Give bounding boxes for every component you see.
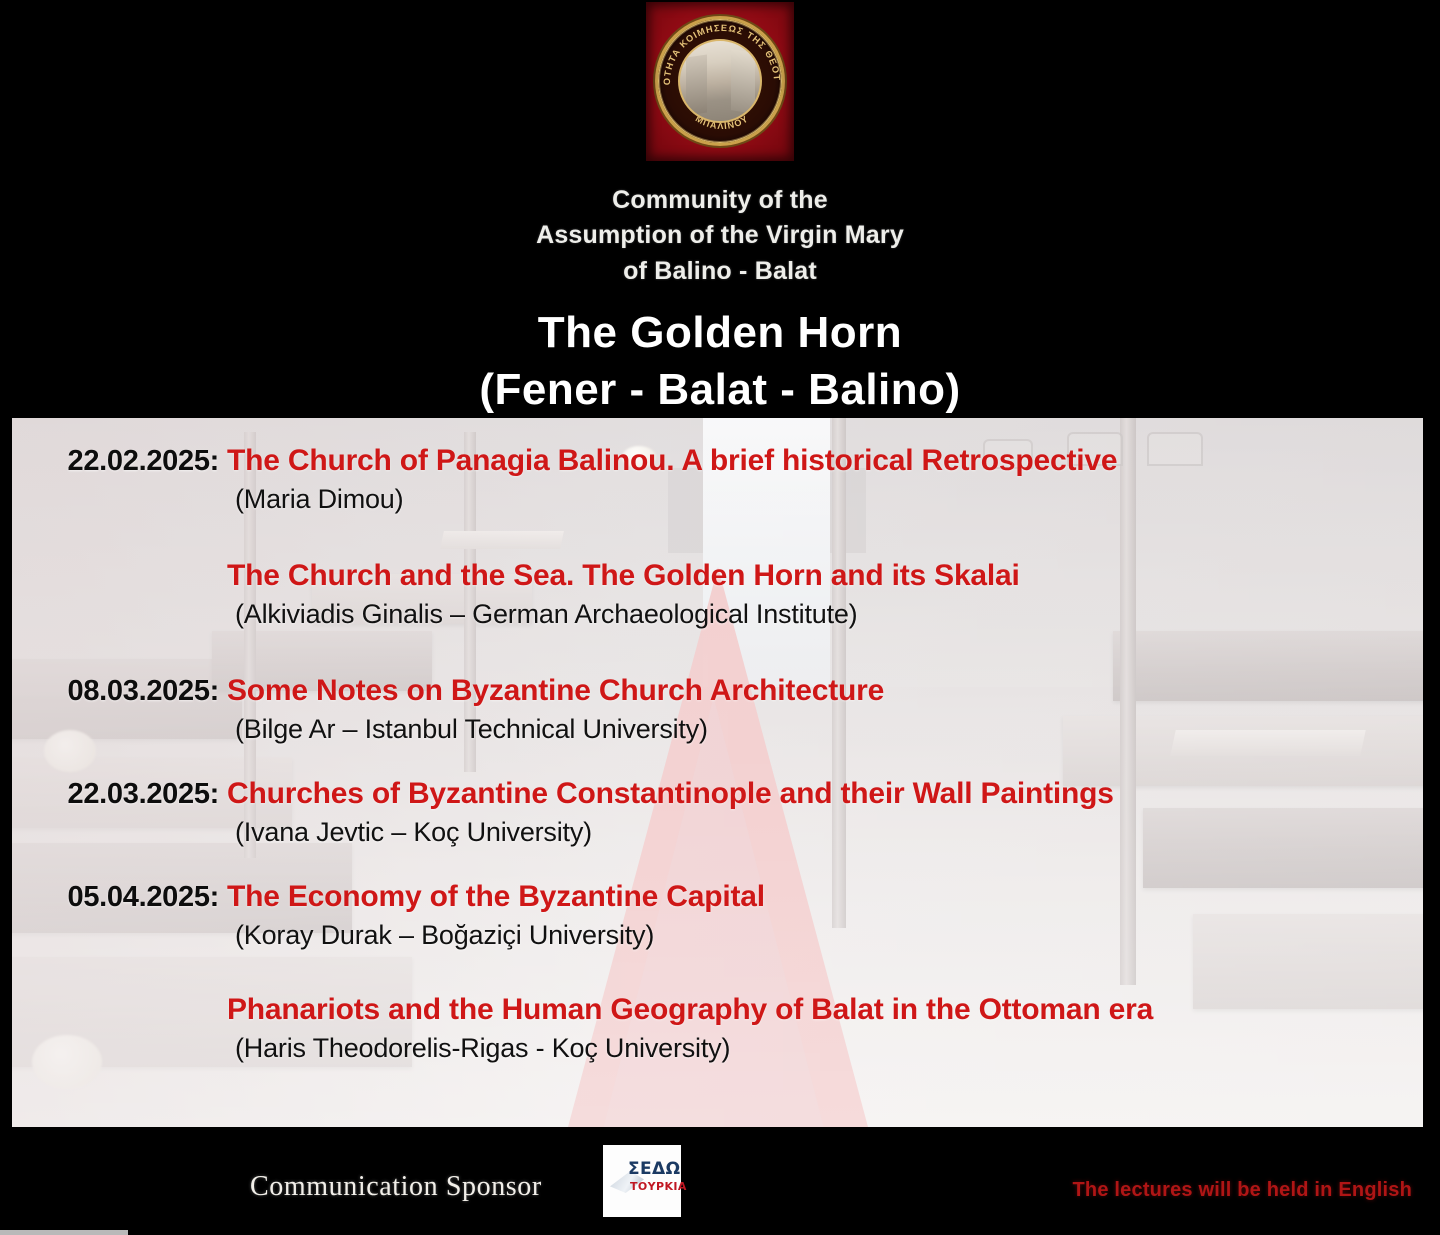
emblem-photo [678,39,762,123]
lecture-entry: 22.03.2025: Churches of Byzantine Consta… [22,777,1413,848]
lecture-entry: The Church and the Sea. The Golden Horn … [22,559,1413,630]
lecture-headline: 05.04.2025: The Economy of the Byzantine… [22,880,1413,914]
lecture-speaker: (Maria Dimou) [235,484,1413,515]
lecture-entry: 05.04.2025: The Economy of the Byzantine… [22,880,1413,951]
lecture-headline: 22.03.2025: Churches of Byzantine Consta… [22,777,1413,811]
lecture-headline: Phanariots and the Human Geography of Ba… [22,993,1413,1027]
lecture-date: 22.03.2025: [22,778,227,811]
sponsor-logo: ΣΕΔΩ ΤΟΥΡΚΙΑ [603,1145,681,1217]
sponsor-label: Communication Sponsor [250,1171,542,1203]
sponsor-logo-inner: ΣΕΔΩ ΤΟΥΡΚΙΑ [608,1159,676,1203]
emblem-medallion: ΚΟΙΝΟΤΗΤΑ ΚΟΙΜΗΣΕΩΣ ΤΗΣ ΘΕΟΤΟΚΟΥ ΜΠΑΛΙΝΟ… [655,16,785,146]
lecture-speaker: (Koray Durak – Boğaziçi University) [235,920,1413,951]
sponsor-logo-bottom-text: ΤΟΥΡΚΙΑ [630,1180,687,1193]
lecture-headline: The Church and the Sea. The Golden Horn … [22,559,1413,593]
lecture-program-list: 22.02.2025: The Church of Panagia Balino… [12,418,1423,1127]
series-title-line-1: The Golden Horn [479,305,960,361]
series-title: The Golden Horn (Fener - Balat - Balino) [479,305,960,418]
lecture-speaker: (Bilge Ar – Istanbul Technical Universit… [235,714,1413,745]
lecture-title: The Church of Panagia Balinou. A brief h… [227,444,1117,478]
poster-header: ΚΟΙΝΟΤΗΤΑ ΚΟΙΜΗΣΕΩΣ ΤΗΣ ΘΕΟΤΟΚΟΥ ΜΠΑΛΙΝΟ… [0,0,1440,418]
lecture-entry: Phanariots and the Human Geography of Ba… [22,993,1413,1064]
lecture-entry: 22.02.2025: The Church of Panagia Balino… [22,444,1413,515]
org-line-3: of Balino - Balat [536,254,904,290]
lecture-title: Churches of Byzantine Constantinople and… [227,777,1114,811]
org-line-1: Community of the [536,183,904,219]
lecture-headline: 22.02.2025: The Church of Panagia Balino… [22,444,1413,478]
lecture-date: 08.03.2025: [22,675,227,708]
lecture-title: The Church and the Sea. The Golden Horn … [227,559,1020,593]
english-language-note: The lectures will be held in English [1073,1179,1413,1202]
lecture-title: The Economy of the Byzantine Capital [227,880,765,914]
series-title-line-2: (Fener - Balat - Balino) [479,362,960,418]
lecture-entry: 08.03.2025: Some Notes on Byzantine Chur… [22,674,1413,745]
lecture-title: Some Notes on Byzantine Church Architect… [227,674,884,708]
org-line-2: Assumption of the Virgin Mary [536,218,904,254]
organization-name: Community of the Assumption of the Virgi… [536,183,904,290]
lecture-speaker: (Ivana Jevtic – Koç University) [235,817,1413,848]
lecture-headline: 08.03.2025: Some Notes on Byzantine Chur… [22,674,1413,708]
bottom-edge-strip [0,1230,128,1235]
lecture-speaker: (Alkiviadis Ginalis – German Archaeologi… [235,599,1413,630]
sponsor-logo-top-text: ΣΕΔΩ [628,1159,680,1179]
community-emblem: ΚΟΙΝΟΤΗΤΑ ΚΟΙΜΗΣΕΩΣ ΤΗΣ ΘΕΟΤΟΚΟΥ ΜΠΑΛΙΝΟ… [646,2,794,161]
lecture-date: 05.04.2025: [22,881,227,914]
lecture-speaker: (Haris Theodorelis-Rigas - Koç Universit… [235,1033,1413,1064]
lecture-title: Phanariots and the Human Geography of Ba… [227,993,1153,1027]
lecture-date: 22.02.2025: [22,445,227,478]
